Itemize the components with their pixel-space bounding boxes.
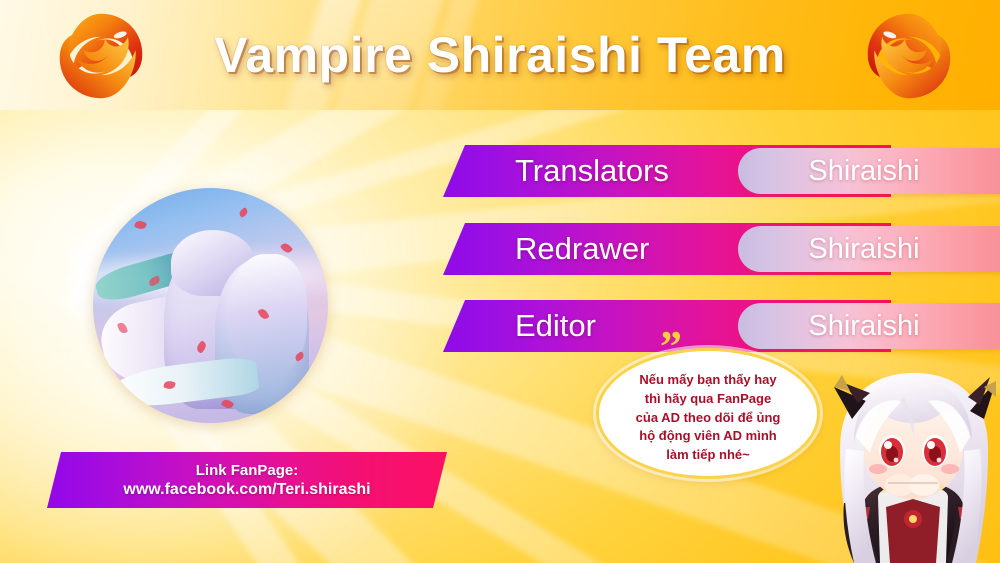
fanpage-banner-text: Link FanPage: www.facebook.com/Teri.shir…: [47, 452, 447, 508]
speech-line: của AD theo dõi để ủng: [636, 409, 781, 428]
speech-bubble-text: Nếu mấy bạn thấy hay thì hãy qua FanPage…: [610, 368, 806, 468]
fanpage-banner[interactable]: Link FanPage: www.facebook.com/Teri.shir…: [47, 452, 447, 508]
speech-line: thì hãy qua FanPage: [645, 390, 771, 409]
fanpage-url[interactable]: www.facebook.com/Teri.shirashi: [123, 481, 370, 499]
speech-line: làm tiếp nhé~: [666, 446, 749, 465]
speech-bubble: ” Nếu mấy bạn thấy hay thì hãy qua FanPa…: [596, 348, 820, 479]
speech-line: Nếu mấy bạn thấy hay: [639, 371, 776, 390]
credit-name-label: Shiraishi: [738, 303, 990, 349]
quote-mark-icon: ”: [660, 335, 686, 357]
fanpage-label: Link FanPage:: [196, 462, 299, 479]
credits-page: Vampire Shiraishi Team: [0, 0, 1000, 563]
credit-name-label: Shiraishi: [738, 148, 990, 194]
chibi-mascot: [820, 357, 1000, 563]
credit-name-label: Shiraishi: [738, 226, 990, 272]
speech-line: hộ động viên AD mình: [639, 427, 776, 446]
